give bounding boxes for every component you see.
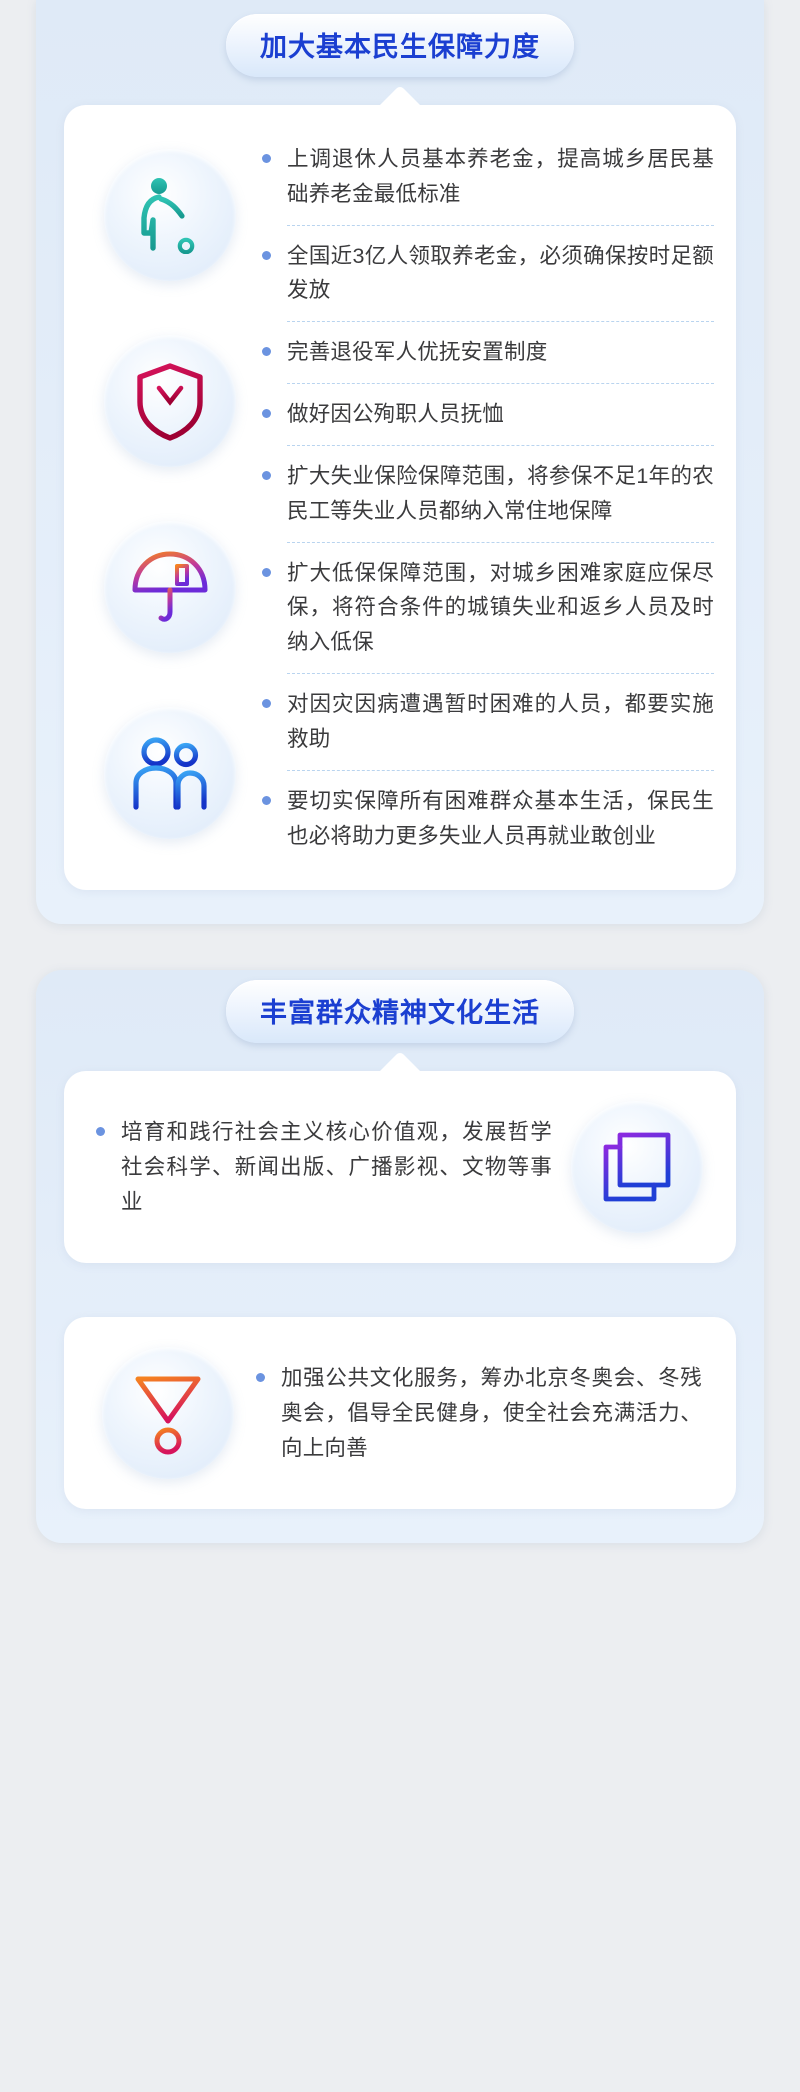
- bullet-dot: [262, 154, 271, 163]
- bullet-dot: [262, 347, 271, 356]
- section2-block-1: 培育和践行社会主义核心价值观，发展哲学社会科学、新闻出版、广播影视、文物等事业: [64, 1071, 736, 1263]
- bullet-dot: [262, 251, 271, 260]
- section-panel-1: 上调退休人员基本养老金，提高城乡居民基础养老金最低标准 全国近3亿人领取养老金，…: [64, 105, 736, 890]
- list-item-text: 上调退休人员基本养老金，提高城乡居民基础养老金最低标准: [287, 142, 714, 212]
- list-item: 扩大失业保险保障范围，将参保不足1年的农民工等失业人员都纳入常住地保障: [258, 448, 714, 540]
- elderly-care-icon: [104, 149, 236, 281]
- list-divider: [287, 445, 714, 446]
- list-item-text: 要切实保障所有困难群众基本生活，保民生也必将助力更多失业人员再就业敢创业: [287, 784, 714, 854]
- bullet-dot: [262, 409, 271, 418]
- list-item: 加强公共文化服务，筹办北京冬奥会、冬残奥会，倡导全民健身，使全社会充满活力、向上…: [252, 1350, 702, 1476]
- section2-block-2: 加强公共文化服务，筹办北京冬奥会、冬残奥会，倡导全民健身，使全社会充满活力、向上…: [64, 1317, 736, 1509]
- list-divider: [287, 673, 714, 674]
- list-divider: [287, 770, 714, 771]
- list-item: 完善退役军人优抚安置制度: [258, 324, 714, 381]
- list-item-text: 做好因公殉职人员抚恤: [287, 397, 504, 432]
- list-item: 要切实保障所有困难群众基本生活，保民生也必将助力更多失业人员再就业敢创业: [258, 773, 714, 865]
- list-item: 培育和践行社会主义核心价值观，发展哲学社会科学、新闻出版、广播影视、文物等事业: [92, 1104, 552, 1230]
- umbrella-insurance-icon: [104, 521, 236, 653]
- icon-column-1: [86, 131, 254, 839]
- books-culture-icon: [571, 1101, 703, 1233]
- bullet-dot: [262, 471, 271, 480]
- shield-yuan-icon: [104, 335, 236, 467]
- list-item: 全国近3亿人领取养老金，必须确保按时足额发放: [258, 228, 714, 320]
- list-divider: [287, 321, 714, 322]
- list-item-text: 加强公共文化服务，筹办北京冬奥会、冬残奥会，倡导全民健身，使全社会充满活力、向上…: [281, 1361, 702, 1465]
- list-item-text: 扩大低保保障范围，对城乡困难家庭应保尽保，将符合条件的城镇失业和返乡人员及时纳入…: [287, 556, 714, 660]
- list-item: 扩大低保保障范围，对城乡困难家庭应保尽保，将符合条件的城镇失业和返乡人员及时纳入…: [258, 545, 714, 671]
- bullet-list-2b: 加强公共文化服务，筹办北京冬奥会、冬残奥会，倡导全民健身，使全社会充满活力、向上…: [248, 1350, 712, 1476]
- bullet-dot: [256, 1373, 265, 1382]
- bullet-dot: [262, 796, 271, 805]
- bullet-dot: [96, 1127, 105, 1136]
- bullet-dot: [262, 568, 271, 577]
- icon-column-2a: [562, 1101, 712, 1233]
- section-title-1: 加大基本民生保障力度: [226, 14, 574, 77]
- list-item-text: 全国近3亿人领取养老金，必须确保按时足额发放: [287, 239, 714, 309]
- bullet-list-1: 上调退休人员基本养老金，提高城乡居民基础养老金最低标准 全国近3亿人领取养老金，…: [254, 131, 714, 864]
- section-gap: [0, 924, 800, 970]
- block-spacer: [36, 1263, 764, 1289]
- list-divider: [287, 542, 714, 543]
- bullet-list-2a: 培育和践行社会主义核心价值观，发展哲学社会科学、新闻出版、广播影视、文物等事业: [88, 1104, 562, 1230]
- list-item-text: 培育和践行社会主义核心价值观，发展哲学社会科学、新闻出版、广播影视、文物等事业: [121, 1115, 552, 1219]
- list-item-text: 完善退役军人优抚安置制度: [287, 335, 547, 370]
- list-item-text: 对因灾因病遭遇暂时困难的人员，都要实施救助: [287, 687, 714, 757]
- list-item: 做好因公殉职人员抚恤: [258, 386, 714, 443]
- medal-sports-icon: [102, 1347, 234, 1479]
- section-card-culture: 丰富群众精神文化生活 培育和践行社会主义核心价值观，发展哲学社会科学、新闻出版、…: [36, 970, 764, 1543]
- list-divider: [287, 383, 714, 384]
- section-title-2: 丰富群众精神文化生活: [226, 980, 574, 1043]
- list-item: 对因灾因病遭遇暂时困难的人员，都要实施救助: [258, 676, 714, 768]
- section-card-livelihood: 加大基本民生保障力度: [36, 0, 764, 924]
- list-item-text: 扩大失业保险保障范围，将参保不足1年的农民工等失业人员都纳入常住地保障: [287, 459, 714, 529]
- bullet-dot: [262, 699, 271, 708]
- people-assistance-icon: [104, 707, 236, 839]
- section-title-wrap-2: 丰富群众精神文化生活: [36, 970, 764, 1043]
- icon-column-2b: [88, 1347, 248, 1479]
- list-divider: [287, 225, 714, 226]
- list-item: 上调退休人员基本养老金，提高城乡居民基础养老金最低标准: [258, 131, 714, 223]
- section-title-wrap-1: 加大基本民生保障力度: [36, 0, 764, 77]
